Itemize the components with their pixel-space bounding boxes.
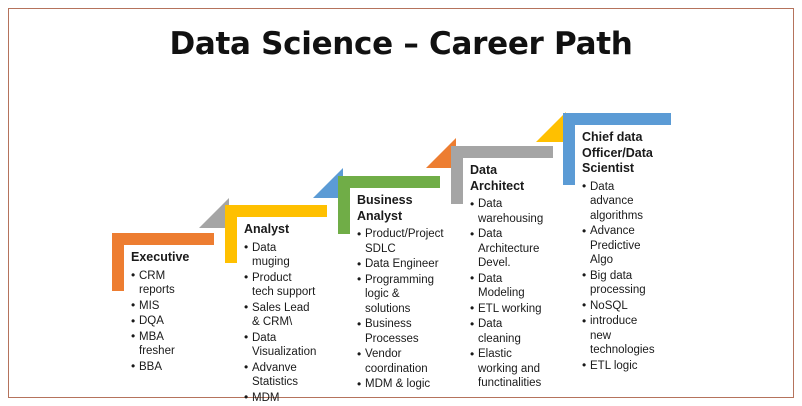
list-item: Big data processing <box>582 269 655 298</box>
step-executive-bar-left <box>112 233 124 291</box>
page-title: Data Science – Career Path <box>0 26 802 62</box>
list-item: introduce new technologies <box>582 314 655 358</box>
list-item: BBA <box>131 360 189 375</box>
list-item: ETL working <box>470 302 543 317</box>
step-business-analyst-bullets: Product/Project SDLC Data Engineer Progr… <box>357 227 444 392</box>
list-item: Data Engineer <box>357 257 444 272</box>
step-data-architect-title: Data Architect <box>470 163 543 194</box>
list-item: Advance Predictive Algo <box>582 224 655 268</box>
step-chief-data-officer-bullets: Data advance algorithms Advance Predicti… <box>582 180 655 374</box>
list-item: Data Architecture Devel. <box>470 227 543 271</box>
step-analyst-bar-top <box>225 205 327 217</box>
list-item: Business Processes <box>357 317 444 346</box>
list-item: MIS <box>131 299 189 314</box>
step-business-analyst-title: Business Analyst <box>357 193 444 224</box>
career-path-diagram: Data Science – Career Path Executive CRM… <box>0 0 802 406</box>
list-item: DQA <box>131 314 189 329</box>
arrow-data-architect-to-chief-data-officer-icon <box>536 112 566 142</box>
list-item: Data cleaning <box>470 317 543 346</box>
list-item: Vendor coordination <box>357 347 444 376</box>
step-executive-bullets: CRM reports MIS DQA MBA fresher BBA <box>131 269 189 375</box>
list-item: NoSQL <box>582 299 655 314</box>
step-chief-data-officer-bar-top <box>563 113 671 125</box>
list-item: Data muging <box>244 241 316 270</box>
step-analyst-bar-left <box>225 205 237 263</box>
list-item: Sales Lead & CRM\ <box>244 301 316 330</box>
list-item: Data Visualization <box>244 331 316 360</box>
step-executive-bar-top <box>112 233 214 245</box>
list-item: Product/Project SDLC <box>357 227 444 256</box>
step-analyst-bullets: Data muging Product tech support Sales L… <box>244 241 316 406</box>
step-chief-data-officer-title: Chief data Officer/Data Scientist <box>582 130 655 177</box>
list-item: Data Modeling <box>470 272 543 301</box>
list-item: Data advance algorithms <box>582 180 655 224</box>
list-item: MDM corrections <box>244 391 316 406</box>
list-item: MDM & logic <box>357 377 444 392</box>
list-item: Data warehousing <box>470 197 543 226</box>
step-business-analyst-bar-left <box>338 176 350 234</box>
step-data-architect-bar-top <box>451 146 553 158</box>
list-item: Advanve Statistics <box>244 361 316 390</box>
list-item: CRM reports <box>131 269 189 298</box>
list-item: Programming logic & solutions <box>357 273 444 317</box>
list-item: ETL logic <box>582 359 655 374</box>
step-analyst-title: Analyst <box>244 222 316 238</box>
step-chief-data-officer-bar-left <box>563 113 575 185</box>
list-item: Product tech support <box>244 271 316 300</box>
step-business-analyst-bar-top <box>338 176 440 188</box>
list-item: MBA fresher <box>131 330 189 359</box>
step-data-architect-bullets: Data warehousing Data Architecture Devel… <box>470 197 543 391</box>
list-item: Elastic working and functinalities <box>470 347 543 391</box>
step-data-architect-bar-left <box>451 146 463 204</box>
step-executive-title: Executive <box>131 250 189 266</box>
